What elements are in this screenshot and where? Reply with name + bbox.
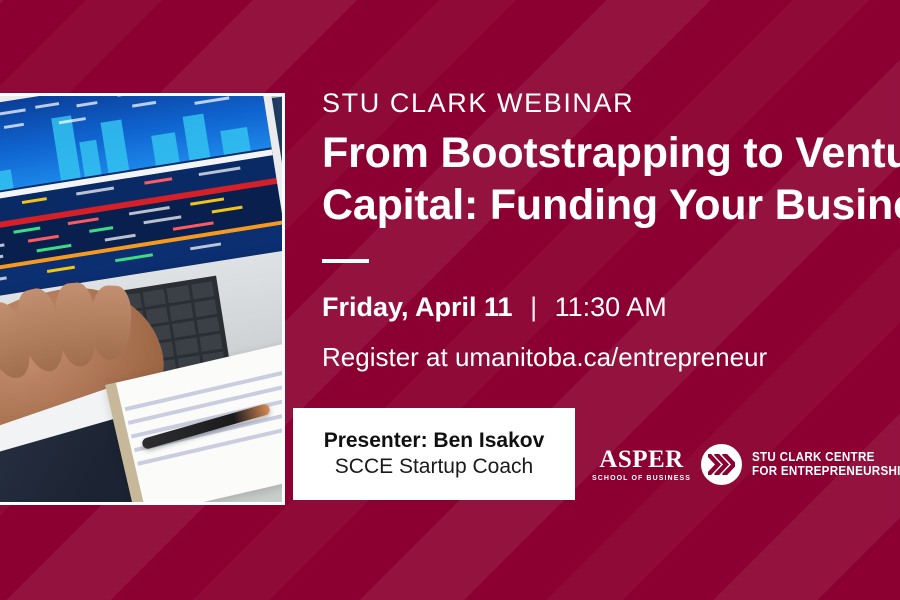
webinar-promo-banner: STU CLARK WEBINAR From Bootstrapping to … xyxy=(0,0,900,600)
scce-line-2: FOR ENTREPRENEURSHIP xyxy=(752,464,900,479)
title-divider-rule xyxy=(322,259,369,263)
double-chevron-right-icon xyxy=(701,444,742,485)
registration-link[interactable]: Register at umanitoba.ca/entrepreneur xyxy=(322,342,767,373)
scce-line-1: STU CLARK CENTRE xyxy=(752,450,900,465)
presenter-role: SCCE Startup Coach xyxy=(335,455,533,479)
series-label: STU CLARK WEBINAR xyxy=(322,88,634,119)
presenter-name: Presenter: Ben Isakov xyxy=(324,429,545,453)
event-datetime: Friday, April 11 | 11:30 AM xyxy=(322,292,667,323)
hero-photo xyxy=(0,93,285,505)
hero-photo-image xyxy=(0,96,282,502)
logo-lockup: ASPER SCHOOL OF BUSINESS STU CLARK CENTR… xyxy=(592,440,900,488)
page-title: From Bootstrapping to Venture Capital: F… xyxy=(322,127,900,232)
event-time: 11:30 AM xyxy=(555,292,667,322)
asper-tagline: SCHOOL OF BUSINESS xyxy=(592,475,691,482)
asper-school-of-business-logo: ASPER SCHOOL OF BUSINESS xyxy=(592,447,691,482)
datetime-separator: | xyxy=(520,292,547,322)
presenter-card: Presenter: Ben Isakov SCCE Startup Coach xyxy=(293,408,575,500)
banner-content: STU CLARK WEBINAR From Bootstrapping to … xyxy=(322,0,900,600)
asper-wordmark: ASPER xyxy=(599,447,683,472)
stu-clark-centre-logo: STU CLARK CENTRE FOR ENTREPRENEURSHIP xyxy=(752,450,900,479)
headline-line-2: Capital: Funding Your Business xyxy=(322,179,900,231)
headline-line-1: From Bootstrapping to Venture xyxy=(322,127,900,179)
event-date: Friday, April 11 xyxy=(322,292,513,322)
